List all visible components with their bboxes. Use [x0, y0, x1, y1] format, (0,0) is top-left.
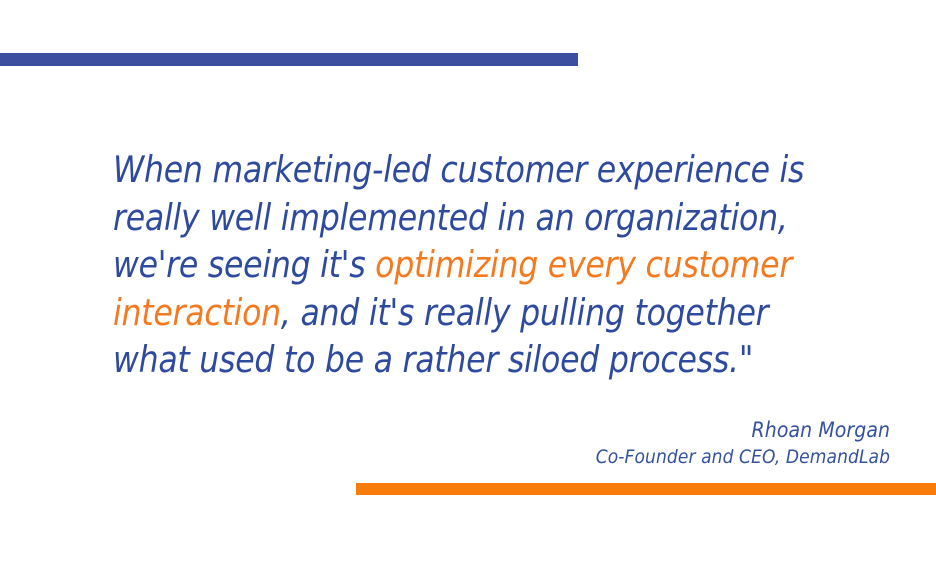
quote-span: , and it's really pulling together — [281, 291, 768, 334]
attribution-role: Co-Founder and CEO, DemandLab — [596, 444, 890, 471]
quote-text: When marketing-led customer experience i… — [113, 146, 719, 384]
bottom-accent-bar — [356, 483, 936, 495]
attribution: Rhoan Morgan Co-Founder and CEO, DemandL… — [563, 416, 890, 471]
quote-line: we're seeing it's optimizing every custo… — [113, 241, 719, 289]
quote-span: really well implemented in an organizati… — [113, 196, 788, 239]
quote-span: When marketing-led customer experience i… — [113, 148, 804, 191]
quote-line: really well implemented in an organizati… — [113, 194, 719, 242]
quote-slide: When marketing-led customer experience i… — [0, 0, 936, 570]
top-accent-bar — [0, 53, 578, 66]
quote-highlight-span: interaction — [113, 291, 281, 334]
quote-line: When marketing-led customer experience i… — [113, 146, 719, 194]
attribution-name: Rhoan Morgan — [596, 416, 890, 444]
quote-span: what used to be a rather siloed process.… — [113, 338, 753, 381]
quote-highlight-span: optimizing every customer — [375, 243, 792, 286]
quote-span: we're seeing it's — [113, 243, 375, 286]
quote-line: interaction, and it's really pulling tog… — [113, 289, 719, 337]
quote-line: what used to be a rather siloed process.… — [113, 336, 719, 384]
